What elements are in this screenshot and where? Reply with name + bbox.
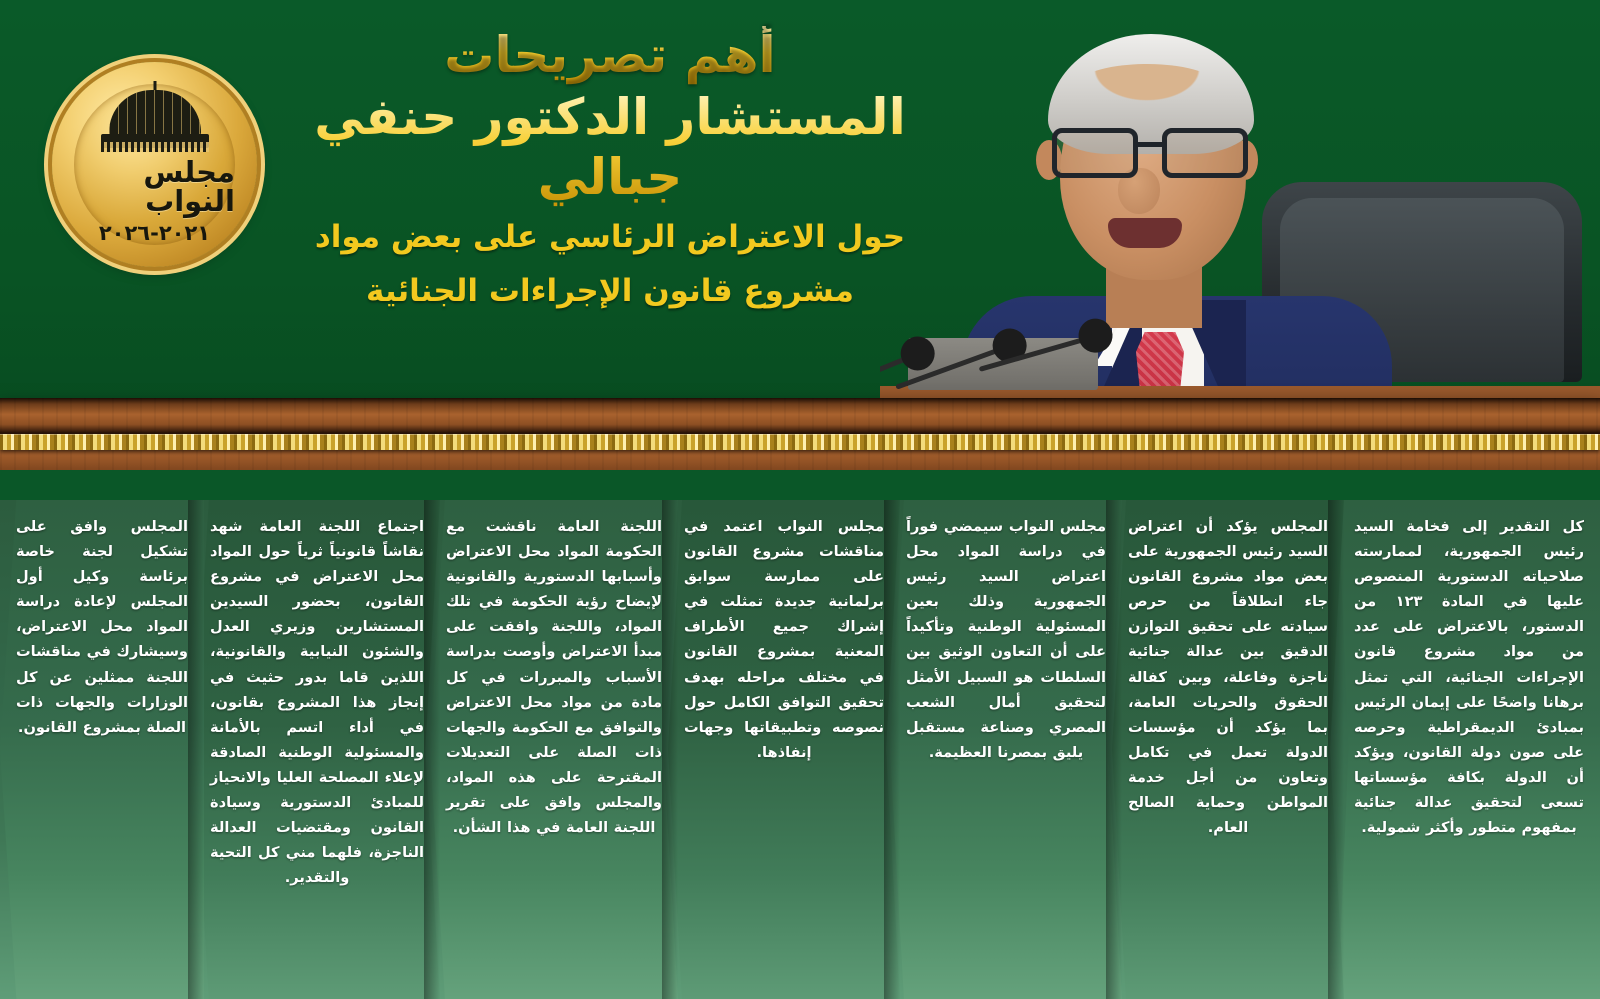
- headline-line-1: أهم تصريحات: [300, 26, 920, 85]
- wooden-rail: [0, 398, 1600, 470]
- mouth: [1108, 218, 1182, 248]
- eyeglasses-icon: [1052, 128, 1252, 180]
- headline-block: أهم تصريحات المستشار الدكتور حنفي جبالي …: [300, 26, 920, 313]
- statement-panel-5[interactable]: اللجنة العامة ناقشت مع الحكومة المواد مح…: [430, 500, 678, 999]
- statement-text: المجلس يؤكد أن اعتراض السيد رئيس الجمهور…: [1128, 514, 1328, 840]
- seal-inner: مجلس النواب ٢٠٢١-٢٠٢٦: [74, 84, 235, 245]
- statement-panel-4[interactable]: مجلس النواب اعتمد في مناقشات مشروع القان…: [668, 500, 900, 999]
- headline-line-4: مشروع قانون الإجراءات الجنائية: [300, 271, 920, 313]
- headline-line-3: حول الاعتراض الرئاسي على بعض مواد: [300, 217, 920, 259]
- gold-ornament-strip: [0, 434, 1600, 450]
- statement-text: مجلس النواب سيمضي فوراً في دراسة المواد …: [906, 514, 1106, 765]
- statements-strip: كل التقدير إلى فخامة السيد رئيس الجمهوري…: [0, 500, 1600, 999]
- headline-line-2: المستشار الدكتور حنفي جبالي: [300, 87, 920, 207]
- statement-panels: كل التقدير إلى فخامة السيد رئيس الجمهوري…: [0, 500, 1600, 999]
- parliament-dome-icon: [99, 102, 211, 152]
- statement-text: اللجنة العامة ناقشت مع الحكومة المواد مح…: [446, 514, 662, 840]
- hero-section: مجلس النواب ٢٠٢١-٢٠٢٦ أهم تصريحات المستش…: [0, 0, 1600, 470]
- statement-panel-3[interactable]: مجلس النواب سيمضي فوراً في دراسة المواد …: [890, 500, 1122, 999]
- statement-panel-7[interactable]: المجلس وافق على تشكيل لجنة خاصة برئاسة و…: [0, 500, 204, 999]
- statement-panel-2[interactable]: المجلس يؤكد أن اعتراض السيد رئيس الجمهور…: [1112, 500, 1344, 999]
- parliament-seal: مجلس النواب ٢٠٢١-٢٠٢٦: [52, 62, 257, 267]
- infographic-root: مجلس النواب ٢٠٢١-٢٠٢٦ أهم تصريحات المستش…: [0, 0, 1600, 999]
- statement-text: كل التقدير إلى فخامة السيد رئيس الجمهوري…: [1354, 514, 1584, 840]
- seal-title: مجلس النواب: [74, 158, 235, 216]
- statement-text: اجتماع اللجنة العامة شهد نقاشاً قانونياً…: [210, 514, 424, 890]
- statement-panel-1[interactable]: كل التقدير إلى فخامة السيد رئيس الجمهوري…: [1338, 500, 1600, 999]
- seal-years: ٢٠٢١-٢٠٢٦: [99, 221, 210, 245]
- statement-text: المجلس وافق على تشكيل لجنة خاصة برئاسة و…: [16, 514, 188, 740]
- statement-panel-6[interactable]: اجتماع اللجنة العامة شهد نقاشاً قانونياً…: [194, 500, 440, 999]
- statement-text: مجلس النواب اعتمد في مناقشات مشروع القان…: [684, 514, 884, 765]
